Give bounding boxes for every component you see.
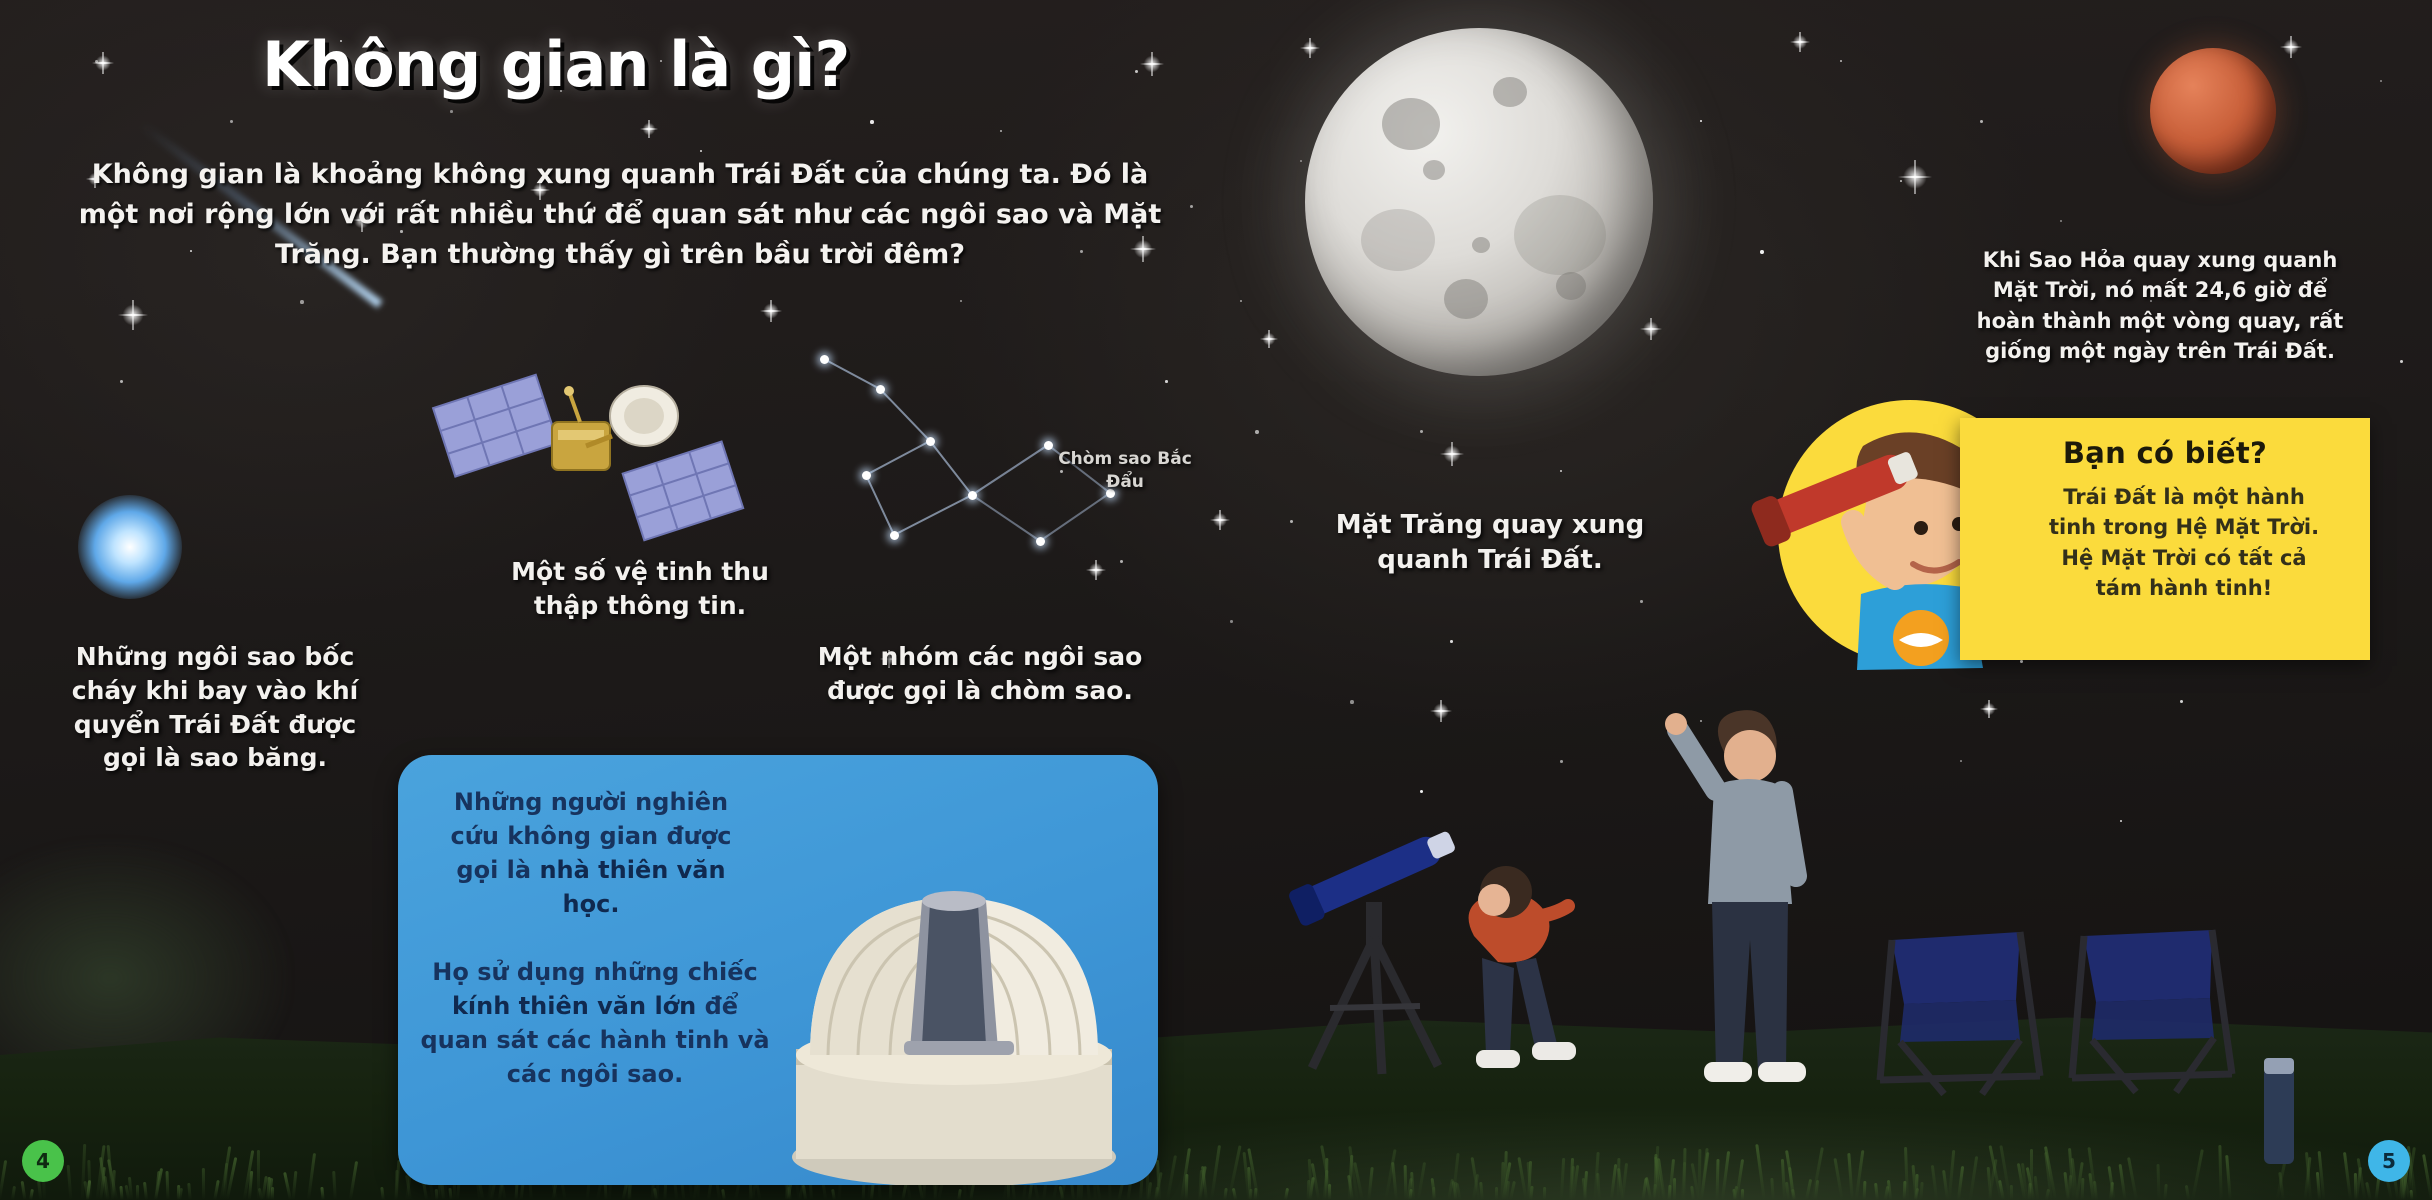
star-dot [300,300,304,304]
grass-blade [271,1187,274,1200]
sparkle-star-icon [2280,36,2302,58]
sparkle-star-icon [760,300,782,322]
star-dot [1000,130,1002,132]
grass-blade [448,1188,452,1200]
astronomer-paragraph-1: Những người nghiên cứu không gian được g… [426,785,756,921]
grass-blade [201,1168,204,1200]
kneeling-child-illustration [1440,840,1610,1140]
sparkle-star-icon [1980,700,1998,718]
grass-blade [165,1171,169,1200]
spread-page: Không gian là gì? Không gian là khoảng k… [0,0,2432,1200]
grass-blade [1431,1187,1435,1200]
star-dot [1190,205,1193,208]
star-dot [1240,300,1242,302]
thermos-illustration [2250,1050,2310,1180]
grass-blade [1673,1178,1676,1200]
did-you-know-title: Bạn có biết? [1960,436,2370,470]
grass-blade [2354,1173,2357,1200]
star-dot [1980,120,1983,123]
satellite-illustration [430,360,770,560]
star-dot [450,110,453,113]
page-title: Không gian là gì? [262,28,849,101]
sparkle-star-icon [1140,52,1164,76]
caption-satellite: Một số vệ tinh thu thập thông tin. [490,555,790,623]
camping-chairs-illustration [1870,880,2270,1160]
star-dot [1640,600,1643,603]
grass-blade [1543,1187,1546,1200]
sparkle-star-icon [1210,510,1230,530]
caption-moon: Mặt Trăng quay xung quanh Trái Đất. [1330,508,1650,578]
astronomer-p1-bold: nhà thiên văn học. [539,856,725,918]
star-dot [2060,220,2062,222]
star-dot [2120,820,2122,822]
sparkle-star-icon [118,300,148,330]
star-dot [1420,790,1423,793]
star-dot [1290,520,1293,523]
grass-blade [862,1184,866,1200]
observatory-dome-illustration [754,805,1158,1185]
meteor-head-icon [78,495,182,599]
star-dot [1840,60,1842,62]
astronomer-info-box: Những người nghiên cứu không gian được g… [398,755,1158,1185]
grass-blade [1862,1181,1866,1200]
star-dot [1760,250,1764,254]
mars-illustration [2150,48,2276,174]
sparkle-star-icon [1898,160,1932,194]
star-dot [1255,430,1259,434]
grass-blade [2010,1185,2013,1200]
star-dot [1560,760,1563,763]
star-dot [1300,160,1302,162]
caption-meteor-bold: sao băng. [189,743,327,772]
sparkle-star-icon [1440,442,1464,466]
grass-blade [1653,1154,1657,1200]
star-dot [700,150,702,152]
moon-illustration [1305,28,1653,376]
caption-constellation-bold: chòm sao. [990,676,1133,705]
did-you-know-body: Trái Đất là một hành tinh trong Hệ Mặt T… [2046,482,2322,604]
sparkle-star-icon [640,120,658,138]
tree-silhouette [0,840,290,1070]
star-dot [230,120,233,123]
sparkle-star-icon [1640,318,1662,340]
star-dot [870,120,874,124]
astronomer-p2-prefix: Họ sử dụng những chiếc [432,958,757,986]
star-dot [2400,360,2403,363]
star-dot [1700,120,1702,122]
star-dot [1135,70,1138,73]
caption-mars: Khi Sao Hỏa quay xung quanh Mặt Trời, nó… [1965,245,2355,367]
sparkle-star-icon [1430,700,1452,722]
star-dot [2180,700,2183,703]
intro-paragraph: Không gian là khoảng không xung quanh Tr… [70,155,1170,275]
sparkle-star-icon [1300,38,1320,58]
grass-blade [2081,1178,2085,1200]
star-dot [1450,640,1453,643]
caption-meteor: Những ngôi sao bốc cháy khi bay vào khí … [60,640,370,775]
sparkle-star-icon [92,52,114,74]
star-dot [2380,80,2382,82]
did-you-know-box: Bạn có biết? Trái Đất là một hành tinh t… [1960,418,2370,660]
caption-satellite-bold: vệ tinh [615,557,713,586]
caption-satellite-prefix: Một số [511,557,614,586]
astronomer-paragraph-2: Họ sử dụng những chiếc kính thiên văn lớ… [420,955,770,1091]
page-number-left: 4 [22,1140,64,1182]
caption-constellation: Một nhóm các ngôi sao được gọi là chòm s… [810,640,1150,708]
grass-blade [136,1185,139,1200]
grass-blade [1495,1187,1498,1200]
label-big-dipper: Chòm sao Bắc Đẩu [1040,448,1210,494]
star-dot [1420,430,1423,433]
standing-man-illustration [1660,690,1850,1160]
star-dot [1350,700,1354,704]
star-dot [1960,760,1962,762]
page-number-right: 5 [2368,1140,2410,1182]
star-dot [1230,620,1233,623]
star-dot [120,380,123,383]
star-dot [960,300,962,302]
star-dot [1560,470,1562,472]
astronomer-p2-bold: kính thiên văn lớn [452,992,696,1020]
sparkle-star-icon [1260,330,1278,348]
sparkle-star-icon [1790,32,1810,52]
